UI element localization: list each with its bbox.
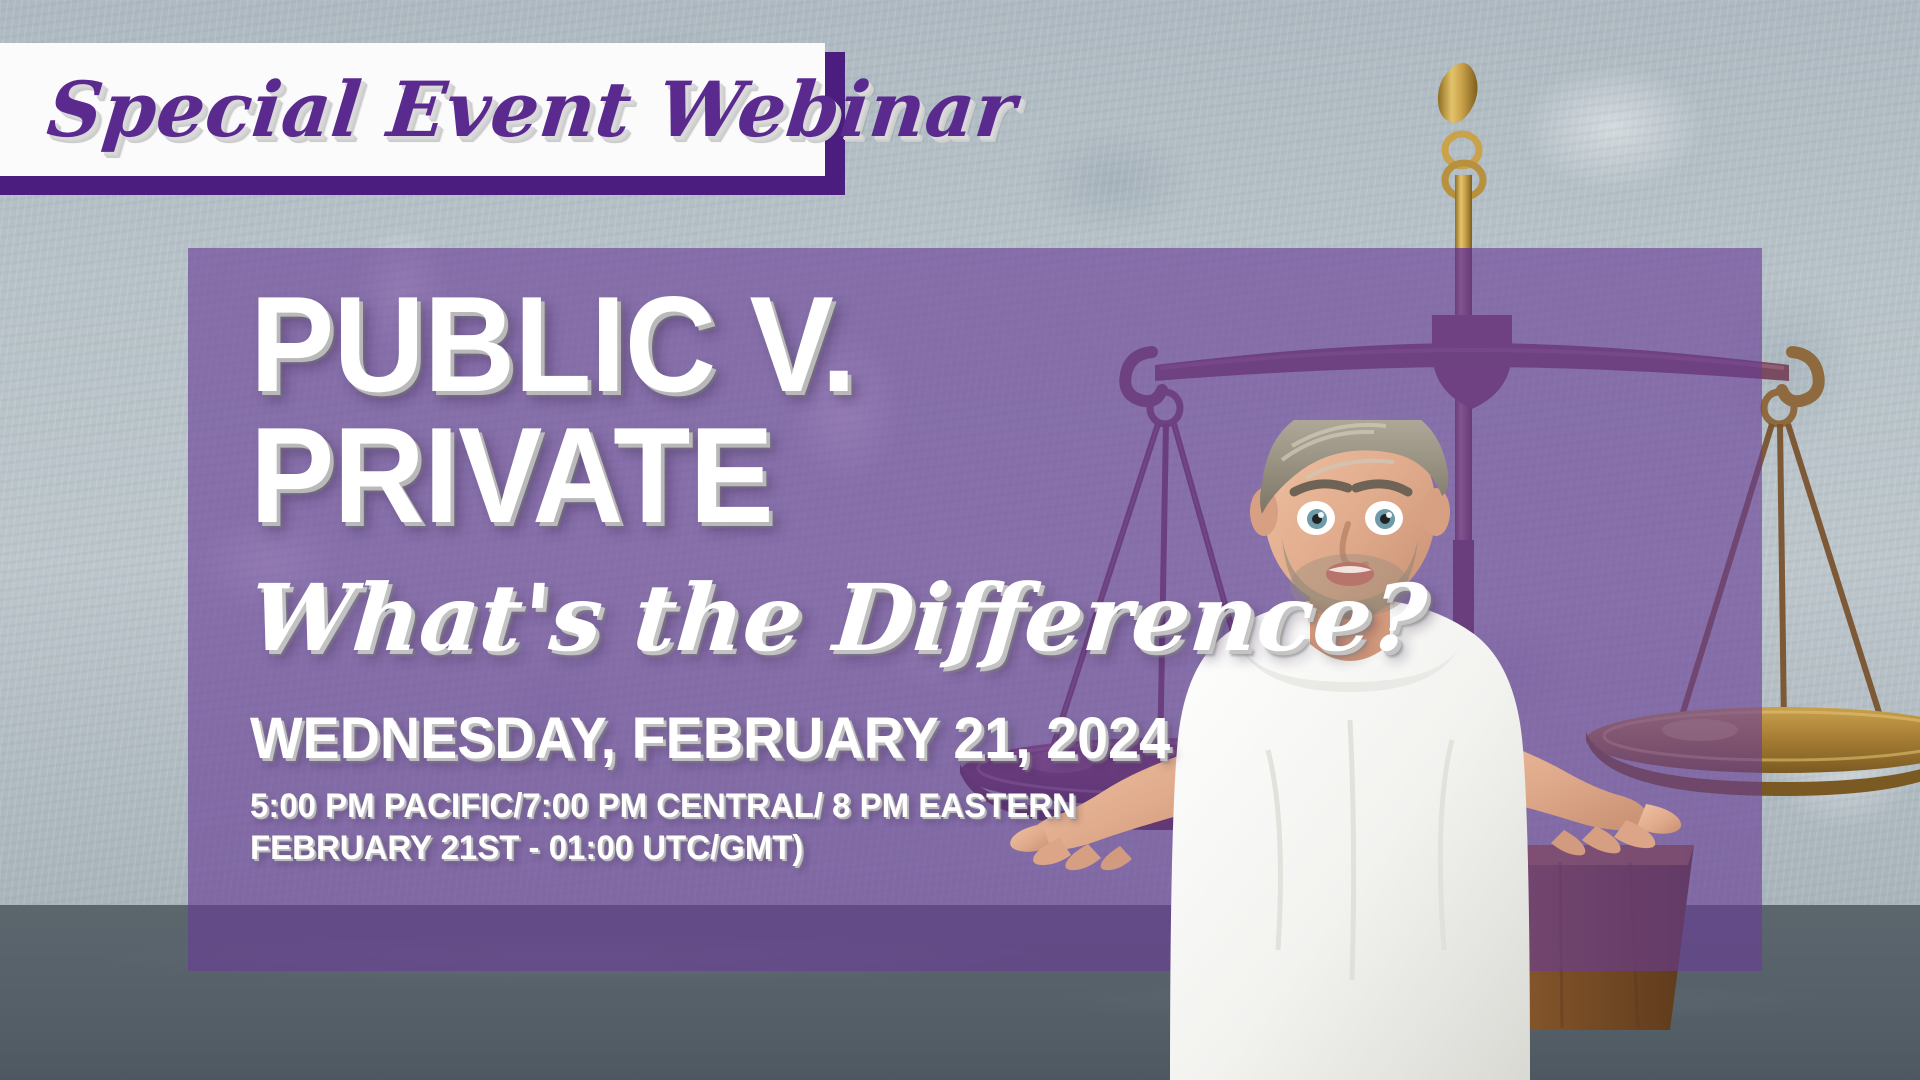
headline-block: PUBLIC V. PRIVATE What's the Difference?… <box>250 282 1430 869</box>
banner-label: Special Event Webinar <box>0 65 1021 154</box>
event-times-line-2: FEBRUARY 21ST - 01:00 UTC/GMT) <box>250 828 1395 869</box>
headline-line-1: PUBLIC V. <box>250 282 1347 407</box>
headline-line-2: PRIVATE <box>250 413 1347 538</box>
special-event-banner: Special Event Webinar <box>0 43 825 176</box>
webinar-promo-graphic: Special Event Webinar PUBLIC V. PRIVATE … <box>0 0 1920 1080</box>
event-date: WEDNESDAY, FEBRUARY 21, 2024 <box>250 710 1383 768</box>
event-times-line-1: 5:00 PM PACIFIC/7:00 PM CENTRAL/ 8 PM EA… <box>250 786 1395 827</box>
headline-subtitle: What's the Difference? <box>246 572 1434 664</box>
